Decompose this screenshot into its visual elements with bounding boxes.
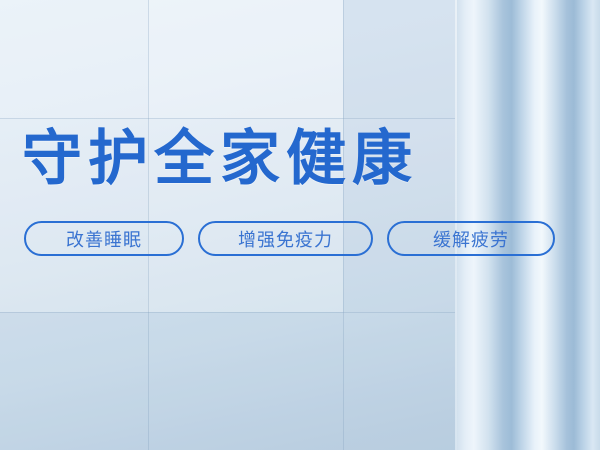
tile-panel-1 — [0, 0, 148, 118]
feature-tag-boost-immunity[interactable]: 增强免疫力 — [198, 221, 373, 256]
promotional-banner: 守护全家健康 改善睡眠 增强免疫力 缓解疲劳 — [0, 0, 600, 450]
feature-tag-relieve-fatigue[interactable]: 缓解疲劳 — [387, 221, 555, 256]
grid-line-horizontal-2 — [0, 312, 458, 313]
feature-tag-list: 改善睡眠 增强免疫力 缓解疲劳 — [24, 221, 555, 256]
tile-panel-2 — [148, 0, 343, 118]
feature-tag-improve-sleep[interactable]: 改善睡眠 — [24, 221, 184, 256]
page-title: 守护全家健康 — [22, 126, 418, 192]
tile-panel-7 — [0, 312, 458, 450]
grid-line-horizontal-1 — [0, 118, 458, 119]
tile-panel-3 — [343, 0, 458, 118]
